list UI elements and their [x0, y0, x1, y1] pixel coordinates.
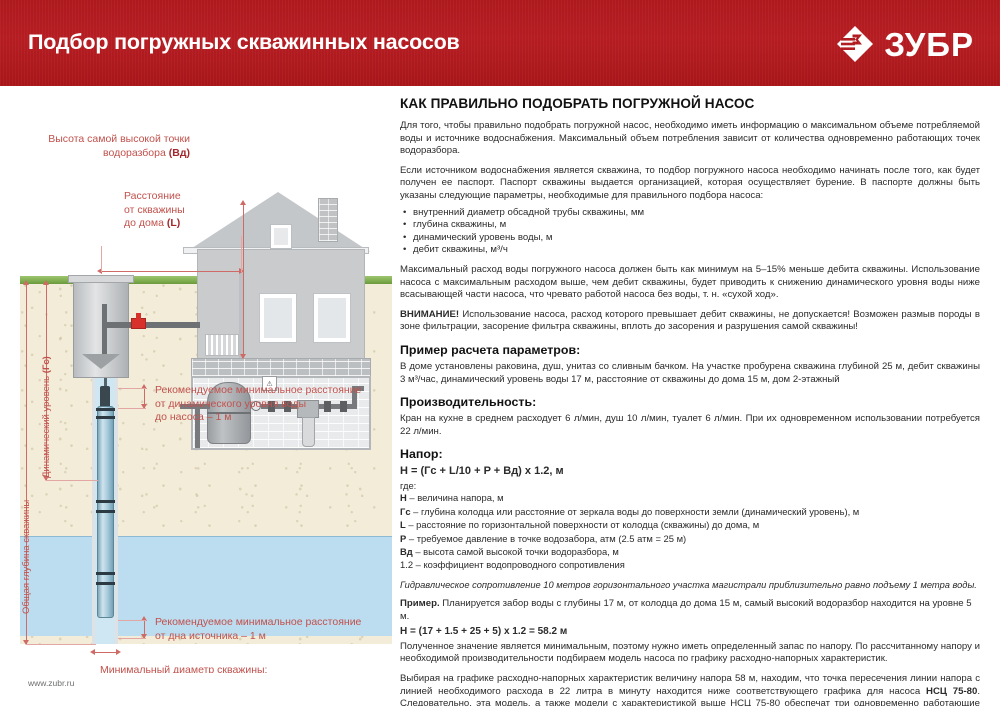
submersible-well-pump-diagram: ⚠ Высота самой высокой точки водоразбора…	[0, 86, 392, 673]
label-min-distance-from-bottom: Рекомендуемое минимальное расстояние от …	[155, 616, 387, 643]
dim-arrow-right	[116, 649, 121, 655]
chimney	[318, 198, 338, 242]
attic-window	[271, 225, 291, 248]
head-heading: Напор:	[400, 447, 980, 461]
definition-h: H – величина напора, м	[400, 492, 980, 504]
house-window	[260, 294, 296, 342]
article-chart-selection: Выбирая на графике расходно-напорных хар…	[400, 673, 980, 706]
list-item: динамический уровень воды, м	[413, 232, 980, 245]
page-header: Подбор погружных скважинных насосов ЗУБР	[0, 0, 1000, 86]
pump-segment-line	[96, 510, 115, 513]
page-title: Подбор погружных скважинных насосов	[28, 30, 460, 55]
article-result: Полученное значение является минимальным…	[400, 641, 980, 666]
definition-gs: Гс – глубина колодца или расстояние от з…	[400, 506, 980, 518]
article-max-flow: Максимальный расход воды погружного насо…	[400, 264, 980, 302]
definition-l: L – расстояние по горизонтальной поверхн…	[400, 519, 980, 531]
shutoff-valve-icon	[131, 318, 146, 329]
brand-name: ЗУБР	[884, 28, 974, 61]
caisson-funnel	[82, 354, 120, 369]
definition-text: – требуемое давление в точке водозабора,…	[406, 533, 686, 544]
label-min-distance-from-dynamic-level: Рекомендуемое минимальное расстояние от …	[155, 384, 387, 425]
example-label: Пример.	[400, 598, 440, 609]
dim-leader-line	[118, 388, 146, 389]
pump-segment-line	[96, 416, 115, 419]
article-title: КАК ПРАВИЛЬНО ПОДОБРАТЬ ПОГРУЖНОЙ НАСОС	[400, 96, 980, 111]
dim-line-diameter	[94, 652, 118, 653]
list-item: глубина скважины, м	[413, 219, 980, 232]
pump-segment-line	[96, 408, 115, 411]
footer-website-url[interactable]: www.zubr.ru	[28, 678, 74, 688]
definition-text: – коэффициент водопроводного сопротивлен…	[413, 559, 625, 570]
article-intro-2: Если источником водоснабжения является с…	[400, 165, 980, 203]
example-formula: H = (17 + 1.5 + 25 + 5) x 1.2 = 58.2 м	[400, 626, 980, 637]
definition-text: – величина напора, м	[407, 492, 504, 503]
dim-ext-line-house	[241, 236, 242, 272]
attention-text: Использование насоса, расход которого пр…	[400, 309, 980, 333]
dim-line-l	[101, 271, 241, 272]
caisson-lid	[68, 275, 134, 283]
pump-segment-line	[96, 500, 115, 503]
dim-leader-line	[118, 408, 146, 409]
water-table-line	[20, 536, 392, 537]
performance-text: Кран на кухне в среднем расходует 6 л/ми…	[400, 413, 980, 438]
house-window	[314, 294, 350, 342]
shutoff-valve-stem	[136, 313, 141, 319]
definition-p: P – требуемое давление в точке водозабор…	[400, 533, 980, 545]
definition-text: – высота самой высокой точки водоразбора…	[413, 546, 619, 557]
dim-leader-line	[118, 620, 146, 621]
dim-leader-line	[26, 644, 96, 645]
head-formula: H = (Гс + L/10 + P + Вд) x 1.2, м	[400, 465, 980, 477]
dim-line-vd	[243, 204, 244, 358]
attention-label: ВНИМАНИЕ!	[400, 309, 459, 320]
horizontal-supply-pipe	[160, 322, 200, 328]
definition-text: – расстояние по горизонтальной поверхнос…	[406, 519, 759, 530]
label-dynamic-level: Динамический уровень (Гс)	[41, 356, 52, 478]
definition-symbol: H	[400, 492, 407, 503]
example-calculation: Пример. Планируется забор воды с глубины…	[400, 598, 980, 624]
label-highest-point: Высота самой высокой точки водоразбора (…	[10, 133, 190, 160]
where-label: где:	[400, 480, 980, 491]
page-root: Подбор погружных скважинных насосов ЗУБР	[0, 0, 1000, 706]
dim-arrow-up	[23, 280, 29, 285]
dim-ext-line-well	[101, 246, 102, 272]
house-foundation	[191, 358, 371, 377]
example-heading: Пример расчета параметров:	[400, 343, 980, 357]
pump-model-name: НСЦ 75-80	[926, 686, 977, 697]
example-body: Планируется забор воды с глубины 17 м, о…	[400, 598, 972, 622]
well-riser-pipe	[102, 304, 107, 360]
label-distance-to-house: Расстояние от скважины до дома (L)	[124, 190, 242, 231]
dim-arrow-up	[43, 280, 49, 285]
pump-check-valve-head	[100, 386, 110, 408]
hydraulic-note: Гидравлическое сопротивление 10 метров г…	[400, 579, 980, 591]
dim-leader-line	[118, 638, 146, 639]
example-text: В доме установлены раковина, душ, унитаз…	[400, 361, 980, 386]
list-item: внутренний диаметр обсадной трубы скважи…	[413, 207, 980, 220]
pump-segment-line	[96, 572, 115, 575]
definition-symbol: Гс	[400, 506, 411, 517]
zubr-diamond-logo-icon	[836, 25, 874, 63]
label-min-diameter: Минимальный диаметр скважины: диаметр на…	[100, 664, 340, 673]
definition-text: – глубина колодца или расстояние от зерк…	[411, 506, 860, 517]
definition-vd: Вд – высота самой высокой точки водоразб…	[400, 546, 980, 558]
label-total-depth: Общая глубина скважины	[21, 500, 32, 614]
definition-symbol: 1.2	[400, 559, 413, 570]
dim-arrow-down	[240, 354, 246, 359]
dim-arrow-left	[90, 649, 95, 655]
definition-coefficient: 1.2 – коэффициент водопроводного сопроти…	[400, 559, 980, 571]
article-attention: ВНИМАНИЕ! Использование насоса, расход к…	[400, 309, 980, 334]
definition-symbol: Вд	[400, 546, 413, 557]
list-item: дебит скважины, м³/ч	[413, 244, 980, 257]
pump-segment-line	[96, 582, 115, 585]
brand-logo: ЗУБР	[836, 24, 974, 64]
article-intro-1: Для того, чтобы правильно подобрать погр…	[400, 120, 980, 158]
dim-leader-line	[46, 480, 98, 481]
performance-heading: Производительность:	[400, 395, 980, 409]
porch-railing	[205, 334, 239, 356]
chart-text-pre: Выбирая на графике расходно-напорных хар…	[400, 673, 980, 697]
well-passport-parameters-list: внутренний диаметр обсадной трубы скважи…	[400, 207, 980, 257]
article-content: КАК ПРАВИЛЬНО ПОДОБРАТЬ ПОГРУЖНОЙ НАСОС …	[400, 96, 980, 706]
